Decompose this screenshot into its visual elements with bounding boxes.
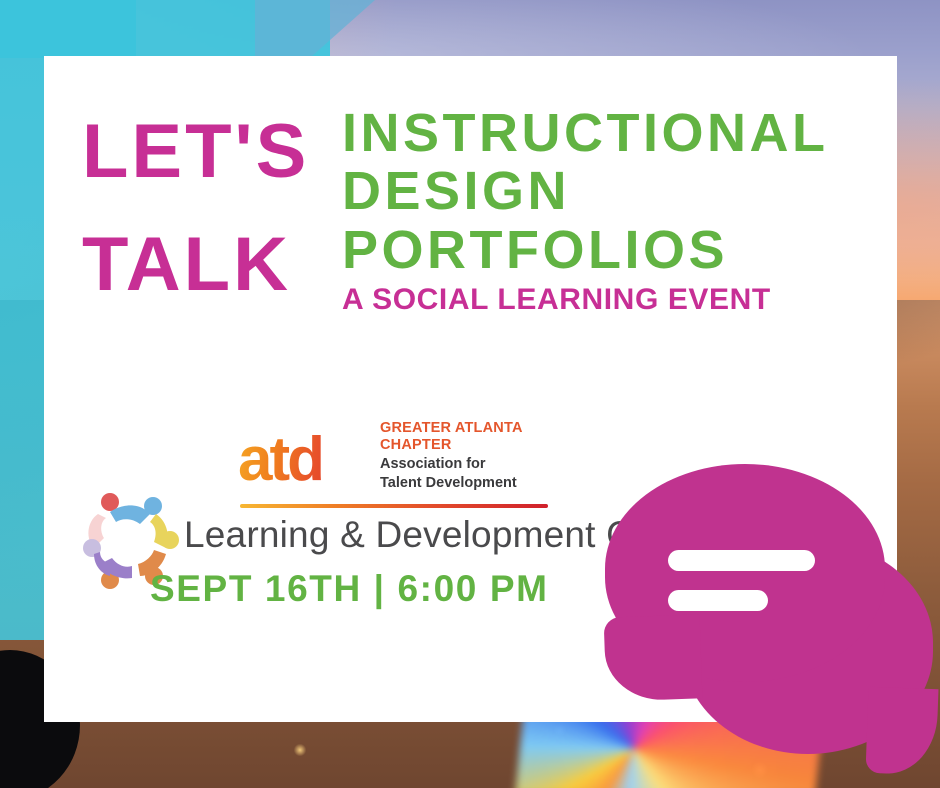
topic-headline: INSTRUCTIONAL DESIGN PORTFOLIOS A SOCIAL…: [342, 104, 892, 317]
lead-headline-line2: TALK: [82, 229, 352, 302]
flyer-canvas: LET'S TALK INSTRUCTIONAL DESIGN PORTFOLI…: [0, 0, 940, 788]
lead-headline: LET'S TALK: [82, 116, 352, 302]
atd-chapter-line1: GREATER ATLANTA: [380, 420, 523, 437]
speech-bubble-front-tail: [604, 614, 703, 701]
headline-group: LET'S TALK INSTRUCTIONAL DESIGN PORTFOLI…: [44, 104, 897, 404]
atd-logo-text: GREATER ATLANTA CHAPTER Association for …: [380, 420, 523, 492]
speech-bubble-front-group: [595, 440, 940, 788]
atd-wordmark: atd: [238, 428, 368, 494]
topic-headline-line3: PORTFOLIOS: [342, 221, 892, 279]
lead-headline-line1: LET'S: [82, 109, 309, 194]
event-datetime: SEPT 16TH | 6:00 PM: [150, 568, 549, 610]
speech-bubble-bar-1: [668, 550, 815, 571]
speech-bubbles-icon: [595, 440, 940, 788]
speech-bubble-bar-2: [668, 590, 768, 611]
topic-headline-line1: INSTRUCTIONAL: [342, 104, 892, 162]
atd-org-line1: Association for: [380, 456, 523, 473]
topic-headline-line2: DESIGN: [342, 162, 892, 220]
atd-chapter-line2: CHAPTER: [380, 437, 523, 454]
event-subtitle: A SOCIAL LEARNING EVENT: [342, 283, 892, 317]
